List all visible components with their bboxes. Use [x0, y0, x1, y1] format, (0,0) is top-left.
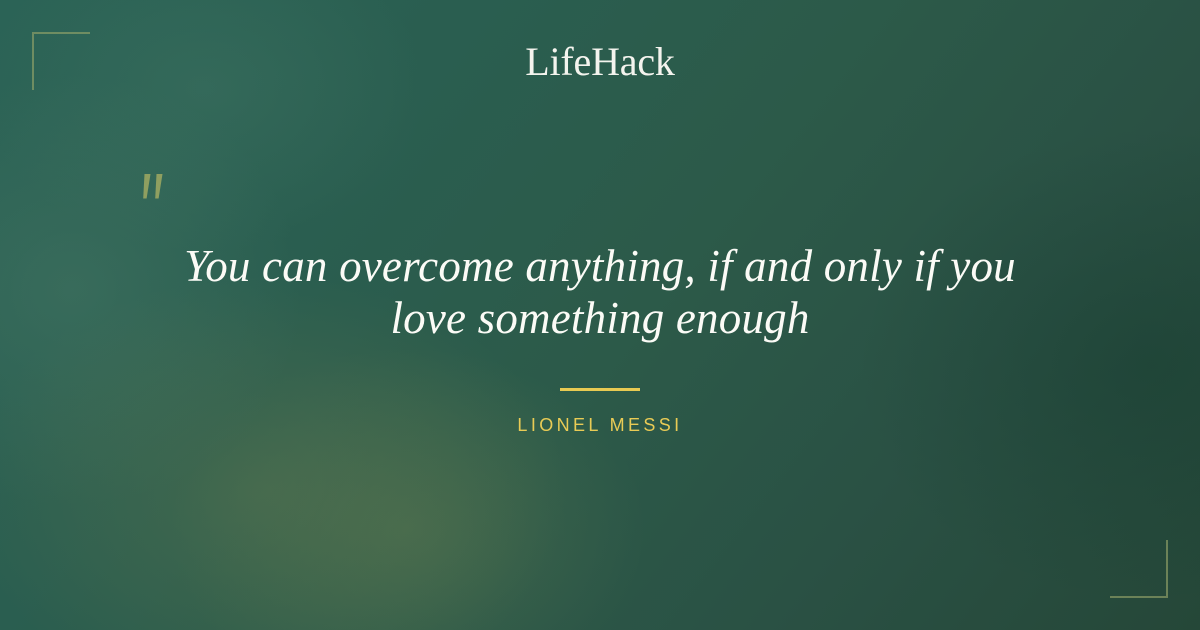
double-quote-icon: [130, 168, 186, 224]
quote-card: LifeHack You can overcome anything, if a…: [0, 0, 1200, 630]
quote-author: LIONEL MESSI: [0, 415, 1200, 436]
quote-block: You can overcome anything, if and only i…: [0, 240, 1200, 436]
lifehack-logo: LifeHack: [0, 38, 1200, 86]
quote-line-2: something enough: [478, 293, 810, 343]
corner-bracket-bottom-right-icon: [1110, 540, 1168, 598]
quote-text: You can overcome anything, if and only i…: [150, 240, 1050, 344]
divider: [560, 388, 640, 391]
